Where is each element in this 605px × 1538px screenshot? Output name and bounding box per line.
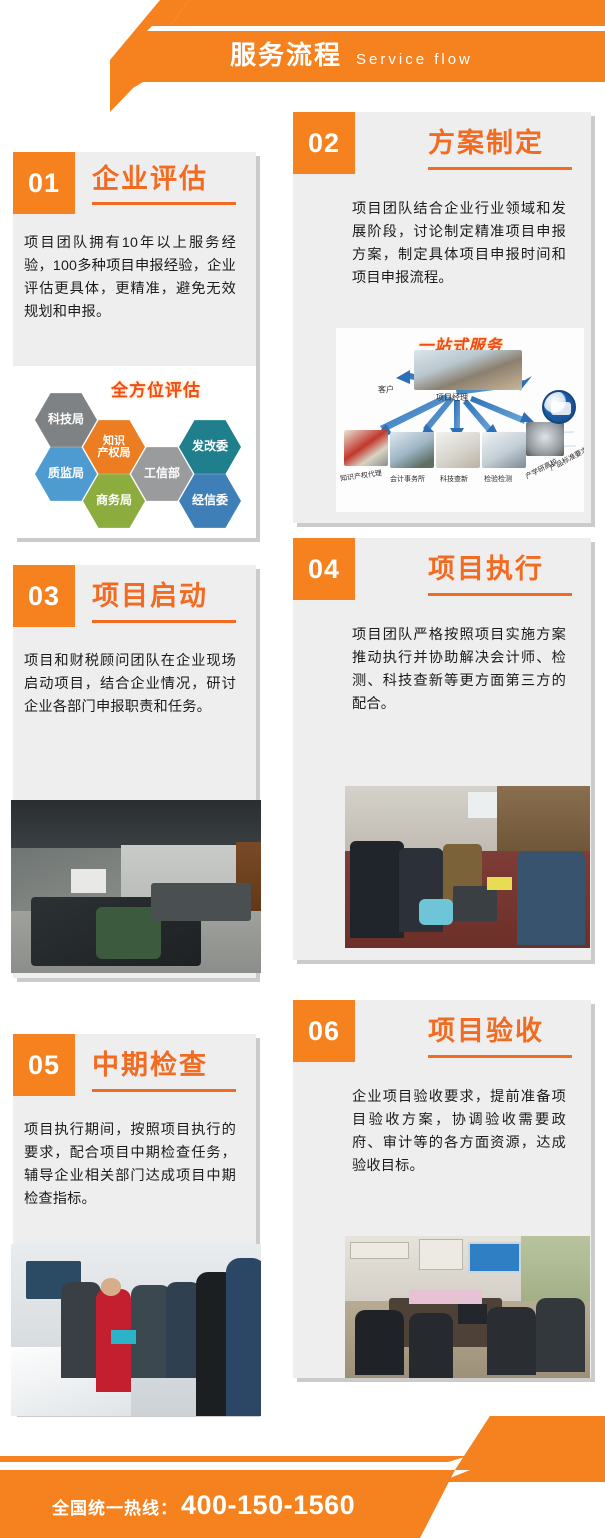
card-01-body: 项目团队拥有10年以上服务经验，100多种项目申报经验，企业评估更具体，更精准，… [24,232,236,324]
card-02-body: 项目团队结合企业行业领域和发展阶段，讨论制定精准项目申报方案，制定具体项目申报时… [352,198,566,290]
hexagon-chart-title: 全方位评估 [111,376,201,401]
one-stop-node-customer: 客户 [378,384,394,395]
acceptance-meeting-photo [345,1236,590,1378]
card-05-title: 中期检查 [92,1052,208,1079]
one-stop-iso-seal [542,390,576,424]
card-03-title-rule [92,620,236,623]
card-06-title-rule [428,1055,572,1058]
card-02-title: 方案制定 [428,130,544,157]
card-03-title: 项目启动 [92,583,208,610]
card-06-body: 企业项目验收要求，提前准备项目验收方案，协调验收需要政府、审计等的各方面资源，达… [352,1086,566,1178]
one-stop-label-search: 科技查新 [440,474,468,484]
footer-hotline-group: 全国统一热线： 400-150-1560 [52,1490,355,1521]
card-04-body: 项目团队严格按照项目实施方案推动执行并协助解决会计师、检测、科技查新等更方面第三… [352,624,566,716]
one-stop-label-accounting: 会计事务所 [390,474,425,484]
hexagon-assessment-chart: 全方位评估 科技局 知识产权局 质监局 商务局 工信部 发改委 经信委 [13,366,256,538]
card-05-title-rule [92,1089,236,1092]
one-stop-service-diagram: 一站式服务 客户 项目经理 [336,328,584,512]
conference-room-photo [11,800,261,973]
card-05-number-badge: 05 [13,1034,75,1096]
card-04-number-badge: 04 [293,538,355,600]
card-02-number-badge: 02 [293,112,355,174]
one-stop-photo-accounting [390,432,434,468]
page-header: 服务流程 Service flow [0,0,605,110]
one-stop-team-photo [414,350,522,390]
one-stop-photo-testing [482,432,526,468]
page-footer: 全国统一热线： 400-150-1560 [0,1416,605,1538]
card-03-number-badge: 03 [13,565,75,627]
card-06-number-badge: 06 [293,1000,355,1062]
card-04-title-rule [428,593,572,596]
footer-hotline-number[interactable]: 400-150-1560 [181,1490,355,1521]
card-06-title: 项目验收 [428,1018,544,1045]
one-stop-photo-university [526,422,564,456]
header-title-cn: 服务流程 [230,42,342,68]
card-05-body: 项目执行期间，按照项目执行的要求，配合项目中期检查任务，辅导企业相关部门达成项目… [24,1119,236,1211]
meeting-working-photo [345,786,590,948]
footer-hotline-label: 全国统一热线： [52,1494,178,1519]
card-01-title-rule [92,202,236,205]
card-02-title-rule [428,167,572,170]
card-03-body: 项目和财税顾问团队在企业现场启动项目，结合企业情况，研讨企业各部门申报职责和任务… [24,650,236,719]
header-title-en: Service flow [356,52,473,67]
site-visit-photo [11,1244,261,1416]
one-stop-photo-search [436,432,480,468]
header-title-group: 服务流程 Service flow [230,42,473,68]
card-01-number-badge: 01 [13,152,75,214]
one-stop-photo-ip [344,430,388,466]
one-stop-node-manager: 项目经理 [436,392,468,403]
infographic-page: 服务流程 Service flow 01 企业评估 项目团队拥有10年以上服务经… [0,0,605,1538]
one-stop-label-testing: 检验检测 [484,474,512,484]
card-04-title: 项目执行 [428,556,544,583]
card-01-title: 企业评估 [92,166,208,193]
